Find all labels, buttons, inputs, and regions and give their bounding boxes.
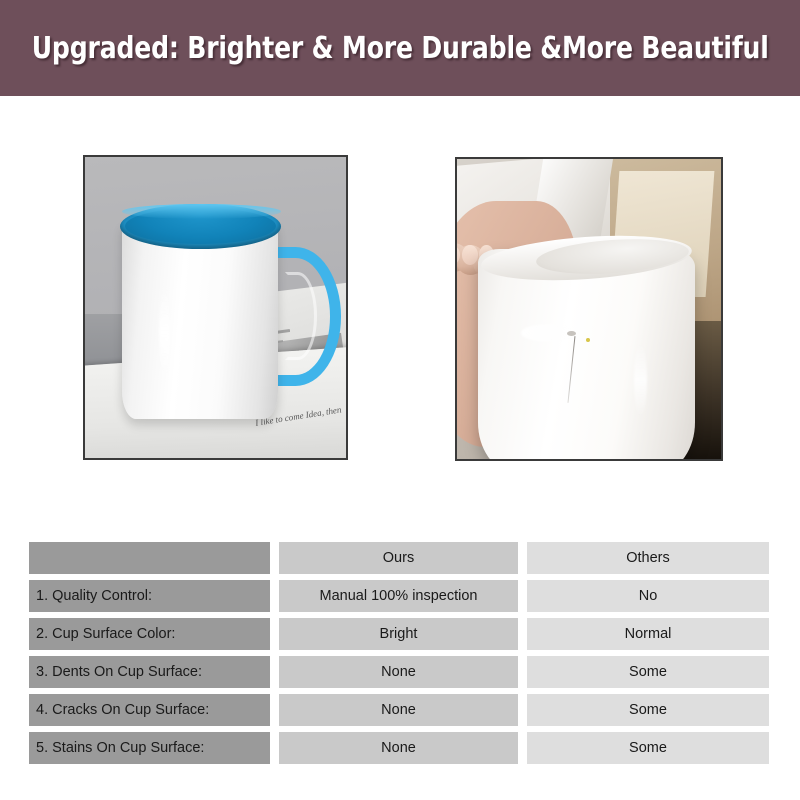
row-value-ours: None (279, 732, 518, 764)
table-header-blank (29, 542, 270, 574)
row-label: 2. Cup Surface Color: (29, 618, 270, 650)
row-value-ours: None (279, 694, 518, 726)
table-row: 3. Dents On Cup Surface: None Some (29, 656, 769, 688)
mug-edge-highlight (634, 342, 647, 417)
table-row: 5. Stains On Cup Surface: None Some (29, 732, 769, 764)
defective-mug-body (478, 249, 694, 461)
fingernail (462, 245, 478, 265)
row-label: 4. Cracks On Cup Surface: (29, 694, 270, 726)
mug-rim-highlight (122, 204, 281, 219)
row-label: 3. Dents On Cup Surface: (29, 656, 270, 688)
mug-white-body (122, 220, 279, 419)
mug-gloss-highlight (159, 286, 170, 377)
photo-others-defective-white-mug (455, 157, 723, 461)
row-value-others: Some (527, 656, 769, 688)
row-value-others: No (527, 580, 769, 612)
row-value-others: Some (527, 732, 769, 764)
row-value-ours: None (279, 656, 518, 688)
table-row: 1. Quality Control: Manual 100% inspecti… (29, 580, 769, 612)
table-row: 2. Cup Surface Color: Bright Normal (29, 618, 769, 650)
table-header-ours: Ours (279, 542, 518, 574)
table-row: 4. Cracks On Cup Surface: None Some (29, 694, 769, 726)
row-value-ours: Manual 100% inspection (279, 580, 518, 612)
header-banner: Upgraded: Brighter & More Durable &More … (0, 0, 800, 96)
row-value-ours: Bright (279, 618, 518, 650)
row-label: 1. Quality Control: (29, 580, 270, 612)
photo-left-scene: I like to come Idea, then (85, 157, 346, 458)
row-value-others: Some (527, 694, 769, 726)
surface-crack-defect (568, 336, 576, 402)
page-title: Upgraded: Brighter & More Durable &More … (32, 31, 769, 66)
photo-ours-blue-interior-mug: I like to come Idea, then (83, 155, 348, 460)
surface-stain-speck (586, 338, 590, 342)
row-label: 5. Stains On Cup Surface: (29, 732, 270, 764)
table-header-row: Ours Others (29, 542, 769, 574)
row-value-others: Normal (527, 618, 769, 650)
table-header-others: Others (527, 542, 769, 574)
photo-right-scene (457, 159, 721, 459)
comparison-table: Ours Others 1. Quality Control: Manual 1… (29, 542, 769, 764)
